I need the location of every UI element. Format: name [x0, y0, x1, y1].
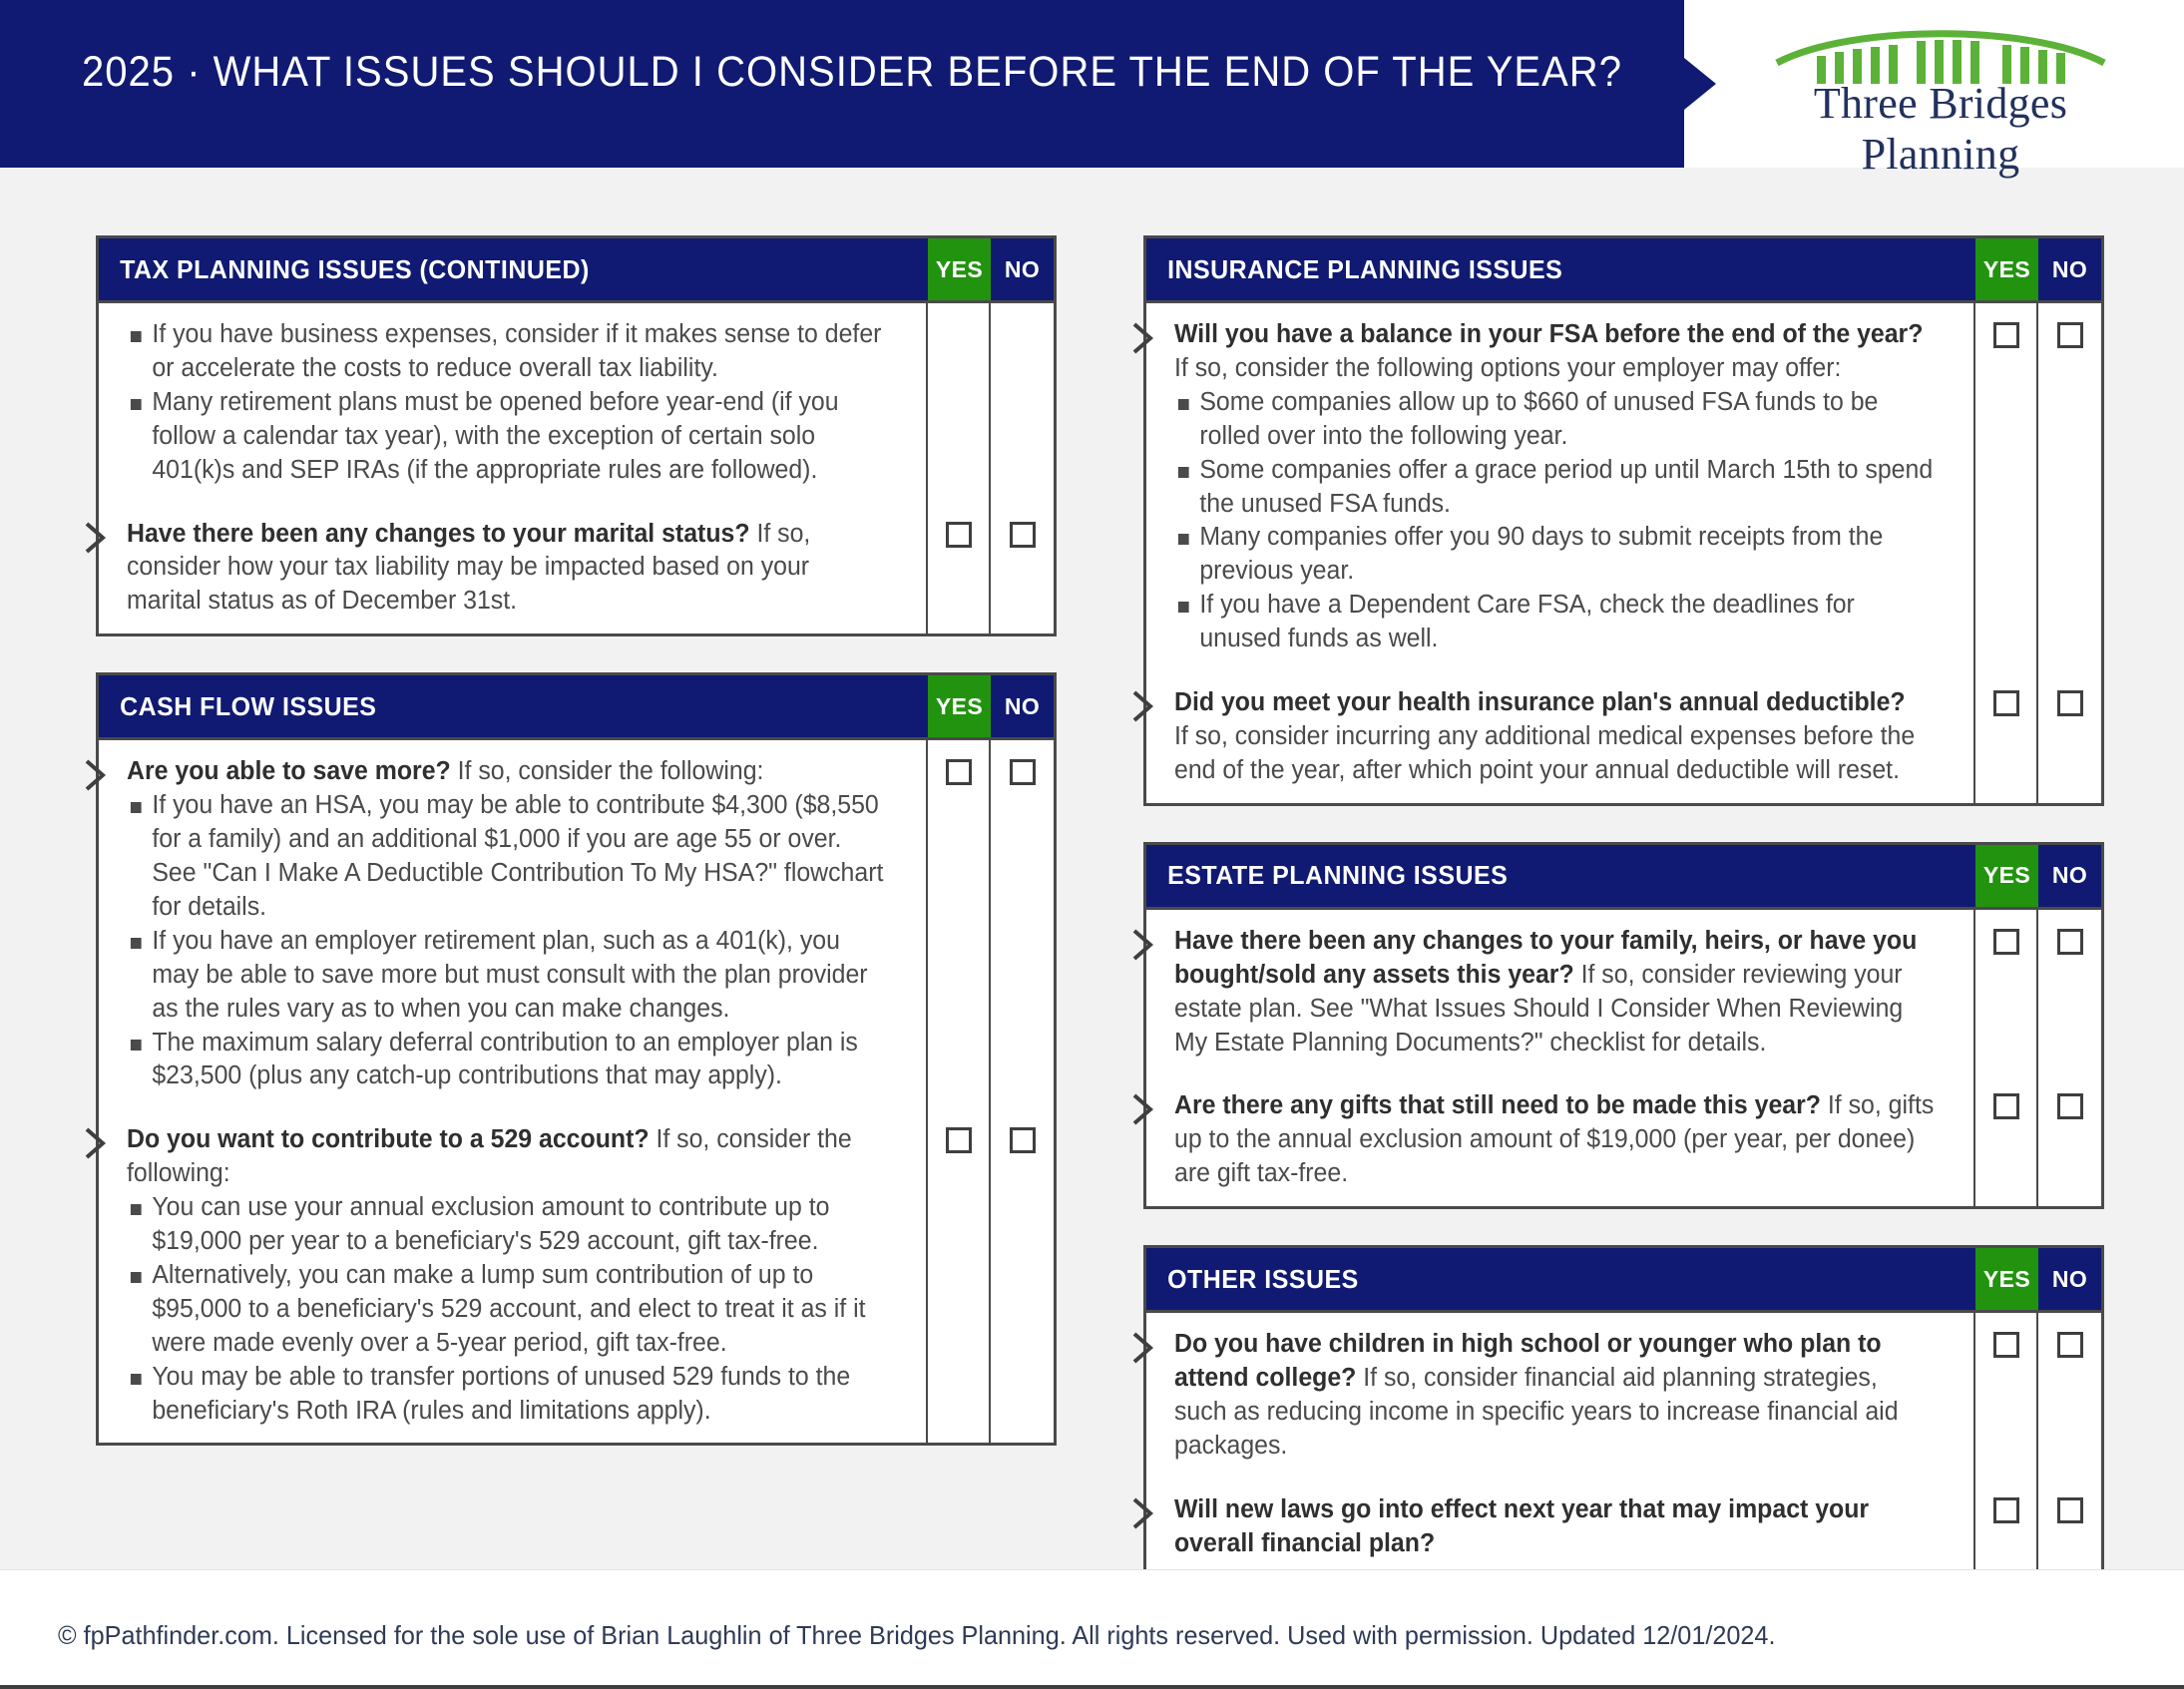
- question-bold: Will new laws go into effect next year t…: [1174, 1495, 1869, 1557]
- question-text: Are there any gifts that still need to b…: [1174, 1089, 1934, 1191]
- question-bold: Have there been any changes to your mari…: [127, 520, 750, 548]
- section-header: INSURANCE PLANNING ISSUESYESNO: [1146, 238, 2101, 300]
- chevron-right-icon: [1130, 1092, 1156, 1126]
- section-estate-planning-issues: ESTATE PLANNING ISSUESYESNOHave there be…: [1143, 842, 2104, 1209]
- bullet-item: If you have a Dependent Care FSA, check …: [1174, 589, 1934, 656]
- chevron-right-icon: [1130, 1331, 1156, 1365]
- bullet-item: If you have an employer retirement plan,…: [127, 925, 886, 1027]
- yes-column-header: YES: [928, 675, 991, 737]
- bullet-item: Some companies offer a grace period up u…: [1174, 454, 1934, 522]
- section-cash-flow-issues: CASH FLOW ISSUESYESNOAre you able to sav…: [96, 672, 1057, 1446]
- bullet-list: If you have business expenses, consider …: [127, 318, 906, 488]
- section-header: ESTATE PLANNING ISSUESYESNO: [1146, 845, 2101, 907]
- bullet-item: Many companies offer you 90 days to subm…: [1174, 521, 1934, 589]
- question-text: Are you able to save more? If so, consid…: [127, 755, 886, 789]
- bullet-item: Alternatively, you can make a lump sum c…: [127, 1259, 886, 1361]
- no-checkbox[interactable]: [2057, 1093, 2083, 1119]
- yes-checkbox-column: [928, 303, 991, 633]
- right-column: INSURANCE PLANNING ISSUESYESNOWill you h…: [1143, 235, 2104, 1615]
- section-body: If you have business expenses, consider …: [99, 300, 1054, 633]
- section-title: CASH FLOW ISSUES: [99, 675, 895, 737]
- bullet-item: Some companies allow up to $660 of unuse…: [1174, 386, 1934, 454]
- chevron-right-icon: [1130, 321, 1156, 355]
- checklist-row: Will new laws go into effect next year t…: [1146, 1478, 1973, 1576]
- checklist-row: If you have business expenses, consider …: [99, 303, 926, 503]
- no-checkbox-column: [991, 303, 1054, 633]
- question-text: Have there been any changes to your fami…: [1174, 925, 1934, 1060]
- yes-checkbox[interactable]: [946, 522, 972, 548]
- yes-checkbox[interactable]: [1993, 929, 2019, 955]
- question-text: Will new laws go into effect next year t…: [1174, 1493, 1934, 1561]
- checklist-row: Will you have a balance in your FSA befo…: [1146, 303, 1973, 671]
- yes-checkbox[interactable]: [946, 759, 972, 785]
- section-tax-planning-issues-continued: TAX PLANNING ISSUES (CONTINUED)YESNOIf y…: [96, 235, 1057, 636]
- bullet-list: Some companies allow up to $660 of unuse…: [1174, 386, 1954, 656]
- logo-text: Three Bridges Planning: [1731, 78, 2150, 180]
- section-title: INSURANCE PLANNING ISSUES: [1146, 238, 1943, 300]
- no-column-header: NO: [2038, 238, 2101, 300]
- answer-text: If so, consider the following:: [451, 757, 764, 785]
- yes-checkbox-column: [1975, 910, 2038, 1206]
- rows-container: Will you have a balance in your FSA befo…: [1146, 303, 1975, 803]
- bridge-icon: [1731, 16, 2150, 86]
- question-text: Do you want to contribute to a 529 accou…: [127, 1123, 886, 1191]
- bullet-item: Many retirement plans must be opened bef…: [127, 386, 886, 488]
- yes-checkbox[interactable]: [946, 1127, 972, 1153]
- bullet-item: You may be able to transfer portions of …: [127, 1361, 886, 1429]
- chevron-right-icon: [83, 1126, 109, 1160]
- chevron-right-icon: [83, 758, 109, 792]
- bullet-item: The maximum salary deferral contribution…: [127, 1027, 886, 1094]
- checklist-row: Have there been any changes to your fami…: [1146, 910, 1973, 1075]
- logo: Three Bridges Planning: [1731, 16, 2150, 136]
- no-column-header: NO: [991, 675, 1054, 737]
- page-header: 2025 · WHAT ISSUES SHOULD I CONSIDER BEF…: [0, 0, 2184, 168]
- yes-column-header: YES: [1975, 845, 2038, 907]
- chevron-right-icon: [1130, 928, 1156, 962]
- section-header: TAX PLANNING ISSUES (CONTINUED)YESNO: [99, 238, 1054, 300]
- section-body: Have there been any changes to your fami…: [1146, 907, 2101, 1206]
- question-text: Do you have children in high school or y…: [1174, 1328, 1934, 1464]
- checklist-row: Are there any gifts that still need to b…: [1146, 1074, 1973, 1206]
- checklist-page: 2025 · WHAT ISSUES SHOULD I CONSIDER BEF…: [0, 0, 2184, 1689]
- yes-column-header: YES: [1975, 238, 2038, 300]
- section-insurance-planning-issues: INSURANCE PLANNING ISSUESYESNOWill you h…: [1143, 235, 2104, 806]
- checklist-row: Did you meet your health insurance plan'…: [1146, 671, 1973, 803]
- checklist-row: Do you have children in high school or y…: [1146, 1313, 1973, 1478]
- section-title: OTHER ISSUES: [1146, 1248, 1943, 1310]
- yes-column-header: YES: [928, 238, 991, 300]
- question-text: Have there been any changes to your mari…: [127, 518, 886, 620]
- copyright-text: © fpPathfinder.com. Licensed for the sol…: [58, 1620, 1775, 1651]
- yes-checkbox-column: [928, 740, 991, 1443]
- page-title: 2025 · WHAT ISSUES SHOULD I CONSIDER BEF…: [82, 48, 1622, 97]
- section-other-issues: OTHER ISSUESYESNODo you have children in…: [1143, 1245, 2104, 1578]
- question-bold: Are there any gifts that still need to b…: [1174, 1091, 1821, 1119]
- header-banner-arrow-icon: [1684, 58, 1716, 110]
- no-checkbox[interactable]: [2057, 929, 2083, 955]
- no-checkbox-column: [2038, 1313, 2101, 1575]
- bullet-list: If you have an HSA, you may be able to c…: [127, 789, 906, 1093]
- no-checkbox-column: [991, 740, 1054, 1443]
- chevron-right-icon: [1130, 689, 1156, 723]
- rows-container: Do you have children in high school or y…: [1146, 1313, 1975, 1575]
- no-column-header: NO: [2038, 1248, 2101, 1310]
- rows-container: If you have business expenses, consider …: [99, 303, 928, 633]
- no-checkbox[interactable]: [1010, 522, 1036, 548]
- section-body: Are you able to save more? If so, consid…: [99, 737, 1054, 1443]
- no-checkbox[interactable]: [1010, 1127, 1036, 1153]
- yes-checkbox[interactable]: [1993, 1093, 2019, 1119]
- answer-text: If so, consider the following options yo…: [1174, 354, 1841, 382]
- section-header: OTHER ISSUESYESNO: [1146, 1248, 2101, 1310]
- answer-text: If so, consider incurring any additional…: [1174, 722, 1915, 784]
- section-header: CASH FLOW ISSUESYESNO: [99, 675, 1054, 737]
- bullet-item: If you have business expenses, consider …: [127, 318, 886, 386]
- question-bold: Are you able to save more?: [127, 757, 451, 785]
- checklist-row: Do you want to contribute to a 529 accou…: [99, 1108, 926, 1443]
- no-column-header: NO: [2038, 845, 2101, 907]
- bullet-item: You can use your annual exclusion amount…: [127, 1191, 886, 1259]
- yes-checkbox[interactable]: [1993, 690, 2019, 716]
- checklist-row: Are you able to save more? If so, consid…: [99, 740, 926, 1108]
- page-bottom-border: [0, 1685, 2184, 1689]
- yes-column-header: YES: [1975, 1248, 2038, 1310]
- no-checkbox-column: [2038, 910, 2101, 1206]
- no-checkbox[interactable]: [1010, 759, 1036, 785]
- question-text: Will you have a balance in your FSA befo…: [1174, 318, 1934, 386]
- no-checkbox[interactable]: [2057, 322, 2083, 348]
- question-bold: Will you have a balance in your FSA befo…: [1174, 320, 1923, 348]
- bullet-item: If you have an HSA, you may be able to c…: [127, 789, 886, 925]
- no-checkbox[interactable]: [2057, 690, 2083, 716]
- section-title: ESTATE PLANNING ISSUES: [1146, 845, 1943, 907]
- no-checkbox[interactable]: [2057, 1332, 2083, 1358]
- yes-checkbox-column: [1975, 1313, 2038, 1575]
- section-body: Will you have a balance in your FSA befo…: [1146, 300, 2101, 803]
- yes-checkbox[interactable]: [1993, 1497, 2019, 1523]
- checklist-row: Have there been any changes to your mari…: [99, 503, 926, 634]
- yes-checkbox[interactable]: [1993, 1332, 2019, 1358]
- chevron-right-icon: [1130, 1496, 1156, 1530]
- section-title: TAX PLANNING ISSUES (CONTINUED): [99, 238, 895, 300]
- chevron-right-icon: [83, 521, 109, 555]
- no-checkbox-column: [2038, 303, 2101, 803]
- yes-checkbox-column: [1975, 303, 2038, 803]
- question-text: Did you meet your health insurance plan'…: [1174, 686, 1934, 788]
- page-footer: © fpPathfinder.com. Licensed for the sol…: [0, 1569, 2184, 1689]
- question-bold: Do you want to contribute to a 529 accou…: [127, 1125, 650, 1153]
- rows-container: Have there been any changes to your fami…: [1146, 910, 1975, 1206]
- no-column-header: NO: [991, 238, 1054, 300]
- section-body: Do you have children in high school or y…: [1146, 1310, 2101, 1575]
- left-column: TAX PLANNING ISSUES (CONTINUED)YESNOIf y…: [96, 235, 1057, 1481]
- no-checkbox[interactable]: [2057, 1497, 2083, 1523]
- yes-checkbox[interactable]: [1993, 322, 2019, 348]
- question-bold: Did you meet your health insurance plan'…: [1174, 688, 1906, 716]
- rows-container: Are you able to save more? If so, consid…: [99, 740, 928, 1443]
- bullet-list: You can use your annual exclusion amount…: [127, 1191, 906, 1428]
